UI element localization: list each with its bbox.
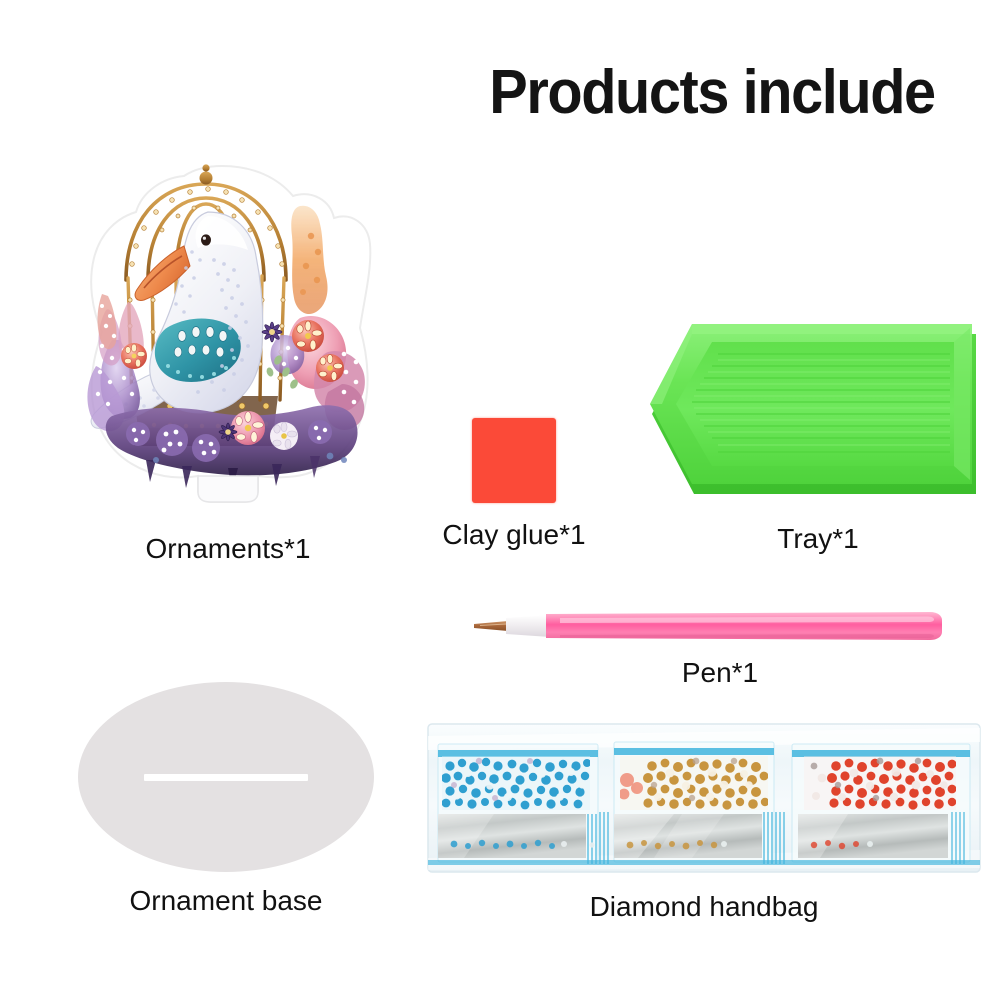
green-tray-icon bbox=[648, 314, 988, 510]
star-flower-a bbox=[262, 322, 282, 342]
acrylic-stand-tab bbox=[198, 476, 258, 502]
bag-red bbox=[792, 744, 970, 864]
clay-glue-label: Clay glue*1 bbox=[404, 520, 624, 551]
drill-pen-icon bbox=[468, 604, 954, 648]
clay-glue-image bbox=[472, 418, 556, 503]
product-contents-infographic: Products include bbox=[0, 0, 1001, 1001]
star-flower-b bbox=[219, 423, 237, 441]
coral-flower-a bbox=[292, 320, 324, 352]
bottom-blossom-a bbox=[231, 411, 265, 445]
coral-flower-left bbox=[121, 343, 147, 369]
bottom-blossom-b bbox=[270, 422, 298, 450]
bird-cage-ornament-icon bbox=[72, 160, 384, 508]
pen-label: Pen*1 bbox=[610, 658, 830, 689]
pen-image bbox=[468, 604, 954, 648]
ornament-base-image bbox=[78, 682, 374, 872]
ornament-base-label: Ornament base bbox=[76, 886, 376, 917]
tray-image bbox=[648, 314, 988, 510]
tray-label: Tray*1 bbox=[688, 524, 948, 555]
ornaments-image bbox=[72, 160, 384, 508]
page-title: Products include bbox=[457, 62, 967, 124]
ornaments-label: Ornaments*1 bbox=[72, 534, 384, 565]
diamond-handbag-label: Diamond handbag bbox=[484, 892, 924, 923]
coral-flower-b bbox=[316, 354, 344, 382]
diamond-handbag-image bbox=[424, 718, 984, 878]
base-slot bbox=[144, 774, 308, 781]
rhinestone-bags-icon bbox=[424, 718, 984, 878]
